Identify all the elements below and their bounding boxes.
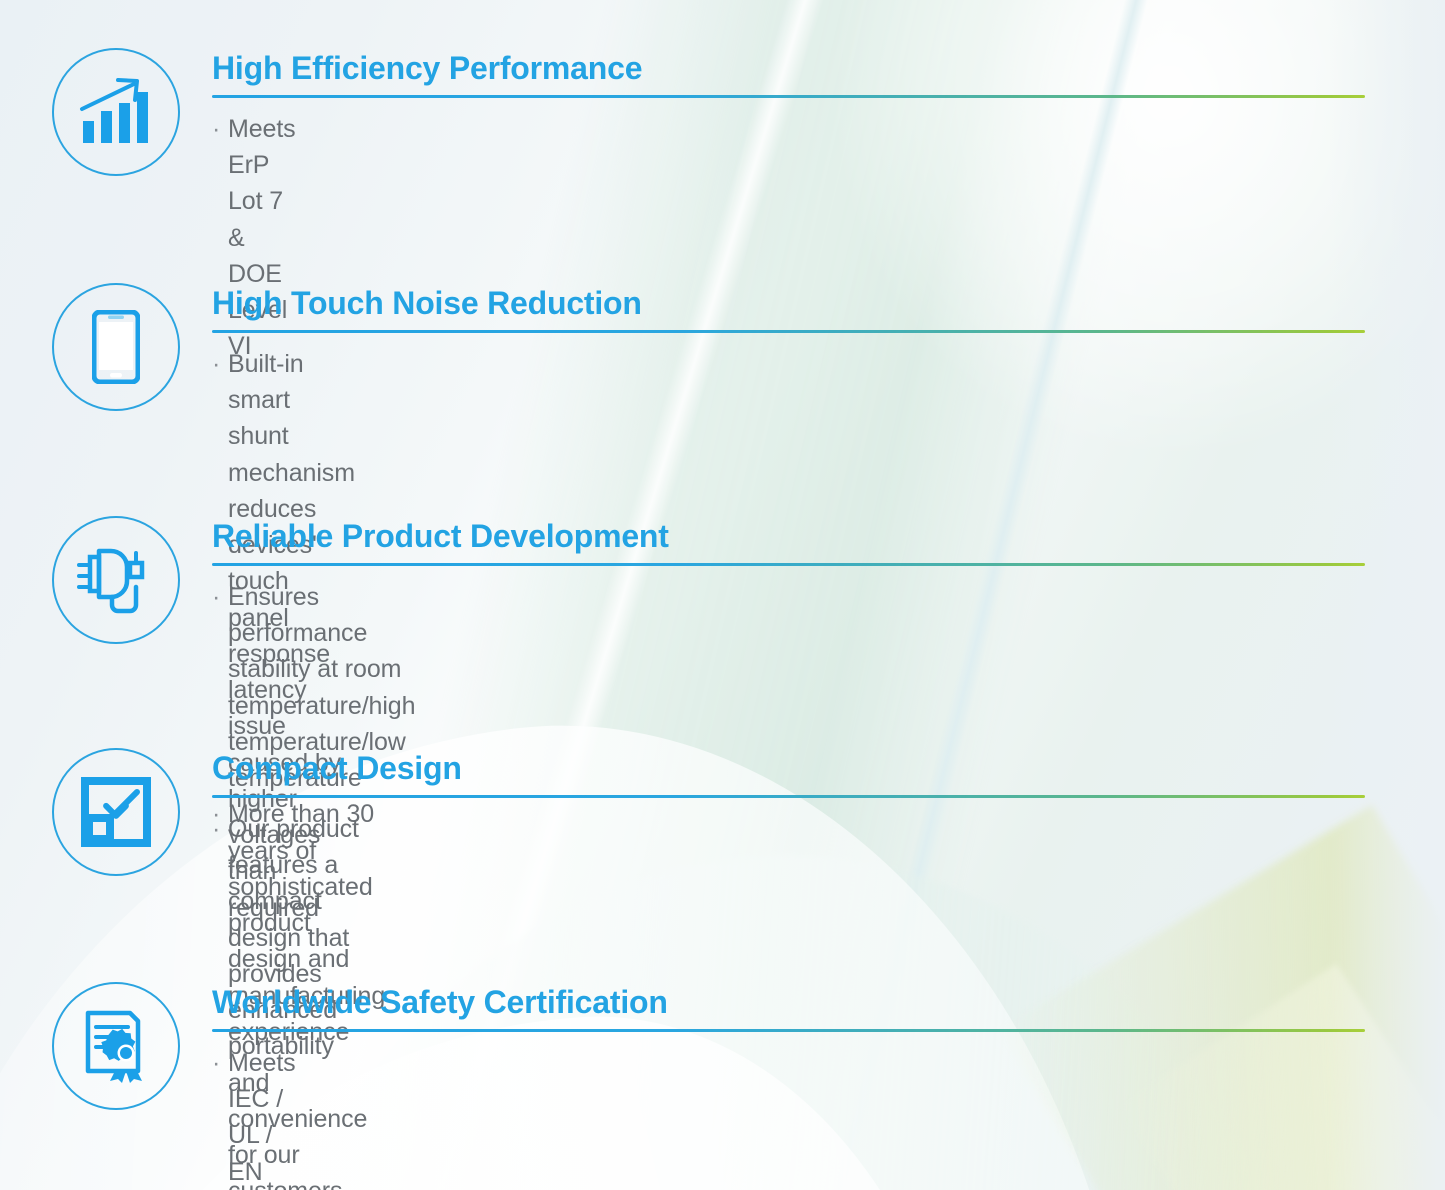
bullet-text: Meets IEC / UL / EN 62368-1 bbox=[228, 1045, 305, 1190]
feature-divider bbox=[212, 795, 1365, 798]
bar-chart-growth-icon bbox=[79, 77, 153, 147]
icon-circle bbox=[52, 516, 180, 644]
feature-divider bbox=[212, 330, 1365, 333]
feature-list-page: High Efficiency Performance · Meets ErP … bbox=[0, 0, 1445, 1190]
feature-icon-wrap bbox=[52, 48, 180, 176]
power-adapter-icon bbox=[76, 543, 156, 617]
certificate-award-icon bbox=[80, 1009, 152, 1083]
feature-divider bbox=[212, 1029, 1365, 1032]
feature-icon-wrap bbox=[52, 982, 180, 1110]
icon-circle bbox=[52, 283, 180, 411]
bullet-text: Meets ErP Lot 7 & DOE Level VI bbox=[228, 111, 296, 365]
bullet-marker: · bbox=[212, 346, 228, 382]
bullet-marker: · bbox=[212, 579, 228, 615]
icon-circle bbox=[52, 748, 180, 876]
bullet-marker: · bbox=[212, 1045, 228, 1081]
icon-circle bbox=[52, 982, 180, 1110]
feature-icon-wrap bbox=[52, 748, 180, 876]
feature-icon-wrap bbox=[52, 283, 180, 411]
bullet-marker: · bbox=[212, 811, 228, 847]
smartphone-icon bbox=[92, 310, 140, 384]
feature-divider bbox=[212, 563, 1365, 566]
icon-circle bbox=[52, 48, 180, 176]
bullet-marker: · bbox=[212, 111, 228, 147]
feature-icon-wrap bbox=[52, 516, 180, 644]
feature-divider bbox=[212, 95, 1365, 98]
compact-resize-icon bbox=[80, 776, 152, 848]
